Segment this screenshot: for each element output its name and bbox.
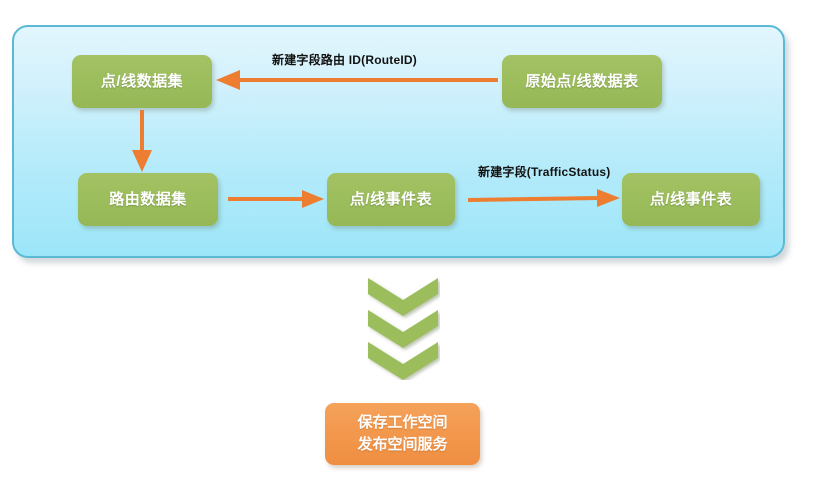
diagram-canvas: 点/线数据集 原始点/线数据表 路由数据集 点/线事件表 点/线事件表 新建字段…	[0, 0, 827, 479]
node-point-line-dataset[interactable]: 点/线数据集	[72, 55, 212, 108]
chevron-down-icon-1	[368, 278, 438, 316]
node-event-table-2[interactable]: 点/线事件表	[622, 173, 760, 226]
terminal-line-1: 保存工作空间	[357, 412, 447, 434]
node-route-dataset[interactable]: 路由数据集	[78, 173, 218, 226]
node-event-table-1[interactable]: 点/线事件表	[327, 173, 455, 226]
node-save-publish[interactable]: 保存工作空间 发布空间服务	[325, 403, 480, 465]
edge-label-traffic-status: 新建字段(TrafficStatus)	[478, 163, 610, 180]
terminal-line-2: 发布空间服务	[357, 434, 447, 456]
chevron-down-stack	[366, 278, 440, 380]
node-source-point-line-table[interactable]: 原始点/线数据表	[502, 55, 662, 108]
edge-label-route-id: 新建字段路由 ID(RouteID)	[272, 51, 417, 68]
